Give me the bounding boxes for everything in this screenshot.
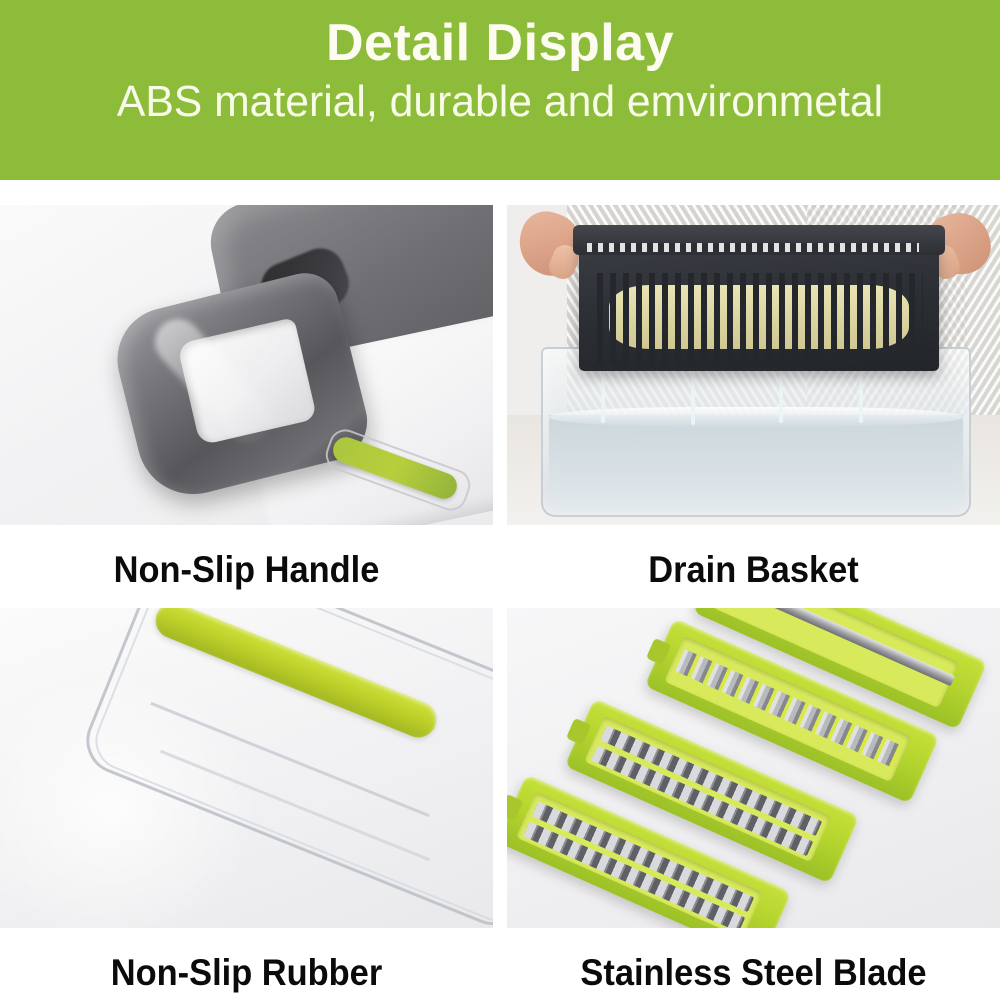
feature-panel-stainless-steel-blade: Stainless Steel Blade [507,608,1000,991]
panel-caption-stainless-steel-blade: Stainless Steel Blade [524,928,982,991]
water-drip [779,365,783,423]
panel-caption-non-slip-handle: Non-Slip Handle [17,525,475,588]
clear-water-container [541,347,971,517]
blade-cartridge-tab [646,638,671,665]
feature-panel-non-slip-rubber: Non-Slip Rubber [0,608,493,991]
product-photo-non-slip-handle [0,205,493,525]
feature-panel-drain-basket: Drain Basket [507,205,1000,588]
product-photo-drain-basket [507,205,1000,525]
basket-rim [573,225,945,255]
drain-basket [579,231,939,371]
product-photo-stainless-steel-blade [507,608,1000,928]
water-body [549,415,963,507]
panel-caption-non-slip-rubber: Non-Slip Rubber [17,928,475,991]
header-banner: Detail Display ABS material, durable and… [0,0,1000,180]
feature-panel-non-slip-handle: Non-Slip Handle [0,205,493,588]
water-surface [549,407,963,427]
water-drip [601,363,605,423]
basket-rim-holes [587,243,919,252]
product-photo-non-slip-rubber [0,608,493,928]
panel-caption-drain-basket: Drain Basket [524,525,982,588]
blade-cartridge-tab [566,718,591,745]
feature-grid: Non-Slip Handle [0,200,1000,979]
page-title: Detail Display [326,16,674,71]
page-subtitle: ABS material, durable and emvironmetal [117,77,883,128]
basket-drain-slots [597,273,923,365]
blade-cartridge-tab [507,794,523,821]
